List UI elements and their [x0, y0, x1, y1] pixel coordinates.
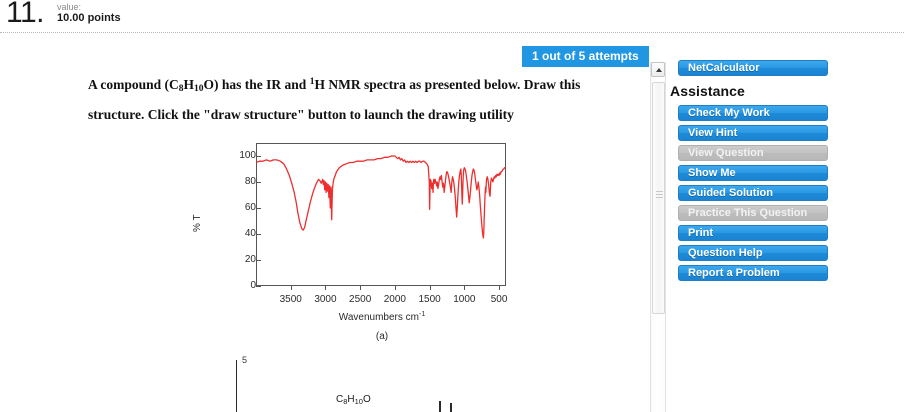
ir-y-axis-label: % T	[192, 214, 203, 232]
nmr-peak	[450, 403, 452, 412]
ir-y-tick-label: 80	[220, 176, 256, 187]
nmr-y-axis	[236, 360, 237, 412]
q1-prefix: A compound (C	[88, 77, 179, 92]
ir-y-tick-label: 40	[220, 228, 256, 239]
ir-spectrum-chart: % T 020406080100 35003000250020001500100…	[196, 140, 516, 355]
nmr-formula-o: O	[363, 394, 371, 405]
header-divider	[0, 32, 904, 33]
ir-x-tick-mark	[291, 285, 292, 290]
ir-x-tick-mark	[499, 285, 500, 290]
scrollbar-thumb[interactable]	[652, 82, 665, 314]
ir-x-tick-mark	[325, 285, 326, 290]
ir-x-tick-mark	[430, 285, 431, 290]
ir-x-tick-mark	[360, 285, 361, 290]
assist-button-question-help[interactable]: Question Help	[678, 245, 828, 261]
assistance-panel: NetCalculator Assistance Check My WorkVi…	[668, 60, 904, 285]
ir-x-tick-mark	[395, 285, 396, 290]
attempts-badge: 1 out of 5 attempts	[522, 46, 649, 67]
ir-x-label-exp: -1	[419, 311, 425, 318]
ir-x-axis-label: Wavenumbers cm-1	[258, 311, 506, 323]
ir-y-ticks: 020406080100	[216, 140, 256, 300]
ir-x-label-text: Wavenumbers cm	[339, 312, 419, 323]
ir-y-tick-label: 60	[220, 202, 256, 213]
content-scrollbar[interactable]	[650, 62, 666, 412]
question-header: 11. value: 10.00 points	[0, 0, 904, 30]
assist-button-view-question: View Question	[678, 145, 828, 161]
points-value: 10.00 points	[57, 12, 121, 25]
assist-button-practice-this-question: Practice This Question	[678, 205, 828, 221]
q1-mid-text: O) has the IR and	[204, 77, 310, 92]
value-label: value:	[57, 2, 121, 12]
nmr-spectrum-partial: 5 C8H10O	[196, 355, 536, 412]
scrollbar-grip-icon	[656, 191, 663, 200]
question-value-block: value: 10.00 points	[57, 2, 121, 25]
assist-button-print[interactable]: Print	[678, 225, 828, 241]
netcalculator-button[interactable]: NetCalculator	[678, 60, 828, 76]
assist-button-report-a-problem[interactable]: Report a Problem	[678, 265, 828, 281]
question-page: 11. value: 10.00 points 1 out of 5 attem…	[0, 0, 904, 412]
nmr-peak	[439, 401, 441, 412]
assistance-button-list: Check My WorkView HintView QuestionShow …	[668, 105, 904, 281]
question-line-1: A compound (C8H10O) has the IR and 1H NM…	[88, 70, 633, 102]
q1-sub-10: 10	[194, 84, 204, 94]
ir-x-ticks: 350030002500200015001000500	[256, 290, 506, 310]
ir-plot-area	[256, 143, 506, 293]
ir-x-tick-label: 500	[479, 294, 519, 305]
ir-y-tick-label: 20	[220, 254, 256, 265]
nmr-formula-sub10: 10	[355, 397, 363, 406]
ir-x-tick-mark	[464, 285, 465, 290]
assist-button-guided-solution[interactable]: Guided Solution	[678, 185, 828, 201]
q1-suffix: H NMR spectra as presented below. Draw t…	[314, 77, 580, 92]
q1-mid-h: H	[184, 77, 195, 92]
nmr-scale-label: 5	[242, 355, 247, 365]
question-body: A compound (C8H10O) has the IR and 1H NM…	[88, 70, 633, 127]
question-number: 11.	[6, 0, 44, 30]
assistance-title: Assistance	[670, 83, 904, 99]
nmr-formula-h: H	[347, 394, 354, 405]
assist-button-view-hint[interactable]: View Hint	[678, 125, 828, 141]
ir-figure-caption: (a)	[258, 331, 506, 342]
nmr-formula: C8H10O	[336, 394, 371, 406]
question-line-2: structure. Click the "draw structure" bu…	[88, 102, 633, 127]
ir-y-tick-label: 100	[220, 150, 256, 161]
scroll-up-arrow-icon[interactable]	[651, 62, 665, 77]
assist-button-check-my-work[interactable]: Check My Work	[678, 105, 828, 121]
ir-y-tick-label: 0	[220, 280, 256, 291]
assist-button-show-me[interactable]: Show Me	[678, 165, 828, 181]
